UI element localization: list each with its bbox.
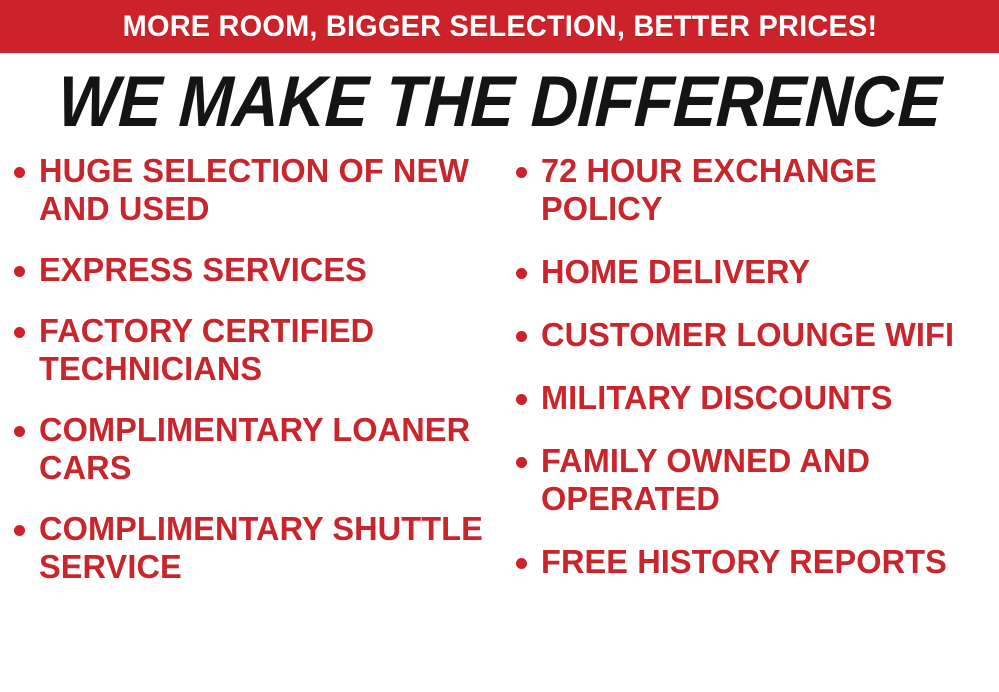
list-item-label: HOME DELIVERY <box>541 253 810 291</box>
list-item-label: MILITARY DISCOUNTS <box>541 379 893 417</box>
list-item-label: FACTORY CERTIFIED TECHNICIANS <box>39 312 498 388</box>
list-item: CUSTOMER LOUNGE WIFI <box>516 316 999 354</box>
promo-strip-text: MORE ROOM, BIGGER SELECTION, BETTER PRIC… <box>122 12 877 42</box>
list-item-label: FAMILY OWNED AND OPERATED <box>541 442 992 518</box>
list-item-label: COMPLIMENTARY LOANER CARS <box>39 411 498 487</box>
list-item: COMPLIMENTARY LOANER CARS <box>14 411 505 487</box>
page-title: WE MAKE THE DIFFERENCE <box>56 66 942 138</box>
list-item: COMPLIMENTARY SHUTTLE SERVICE <box>14 510 505 586</box>
feature-column-left: HUGE SELECTION OF NEW AND USED EXPRESS S… <box>0 152 505 609</box>
list-item: 72 HOUR EXCHANGE POLICY <box>516 152 999 228</box>
list-item: HOME DELIVERY <box>516 253 999 291</box>
list-item: EXPRESS SERVICES <box>14 251 505 289</box>
bullet-dot-icon <box>14 266 25 277</box>
bullet-dot-icon <box>14 426 25 437</box>
bullet-dot-icon <box>14 167 25 178</box>
bullet-dot-icon <box>516 558 527 569</box>
list-item: MILITARY DISCOUNTS <box>516 379 999 417</box>
feature-column-right: 72 HOUR EXCHANGE POLICY HOME DELIVERY CU… <box>505 152 999 606</box>
promo-strip: MORE ROOM, BIGGER SELECTION, BETTER PRIC… <box>0 0 999 53</box>
list-item-label: COMPLIMENTARY SHUTTLE SERVICE <box>39 510 498 586</box>
headline-container: WE MAKE THE DIFFERENCE <box>0 57 999 147</box>
bullet-dot-icon <box>516 331 527 342</box>
list-item-label: FREE HISTORY REPORTS <box>541 543 947 581</box>
list-item-label: EXPRESS SERVICES <box>39 251 367 289</box>
list-item: FREE HISTORY REPORTS <box>516 543 999 581</box>
bullet-dot-icon <box>516 268 527 279</box>
bullet-dot-icon <box>14 327 25 338</box>
list-item: HUGE SELECTION OF NEW AND USED <box>14 152 505 228</box>
list-item-label: 72 HOUR EXCHANGE POLICY <box>541 152 992 228</box>
bullet-dot-icon <box>14 525 25 536</box>
list-item: FACTORY CERTIFIED TECHNICIANS <box>14 312 505 388</box>
bullet-dot-icon <box>516 457 527 468</box>
bullet-dot-icon <box>516 167 527 178</box>
list-item: FAMILY OWNED AND OPERATED <box>516 442 999 518</box>
bullet-dot-icon <box>516 394 527 405</box>
list-item-label: HUGE SELECTION OF NEW AND USED <box>39 152 498 228</box>
advertisement-banner: MORE ROOM, BIGGER SELECTION, BETTER PRIC… <box>0 0 999 692</box>
list-item-label: CUSTOMER LOUNGE WIFI <box>541 316 954 354</box>
feature-columns: HUGE SELECTION OF NEW AND USED EXPRESS S… <box>0 152 999 692</box>
